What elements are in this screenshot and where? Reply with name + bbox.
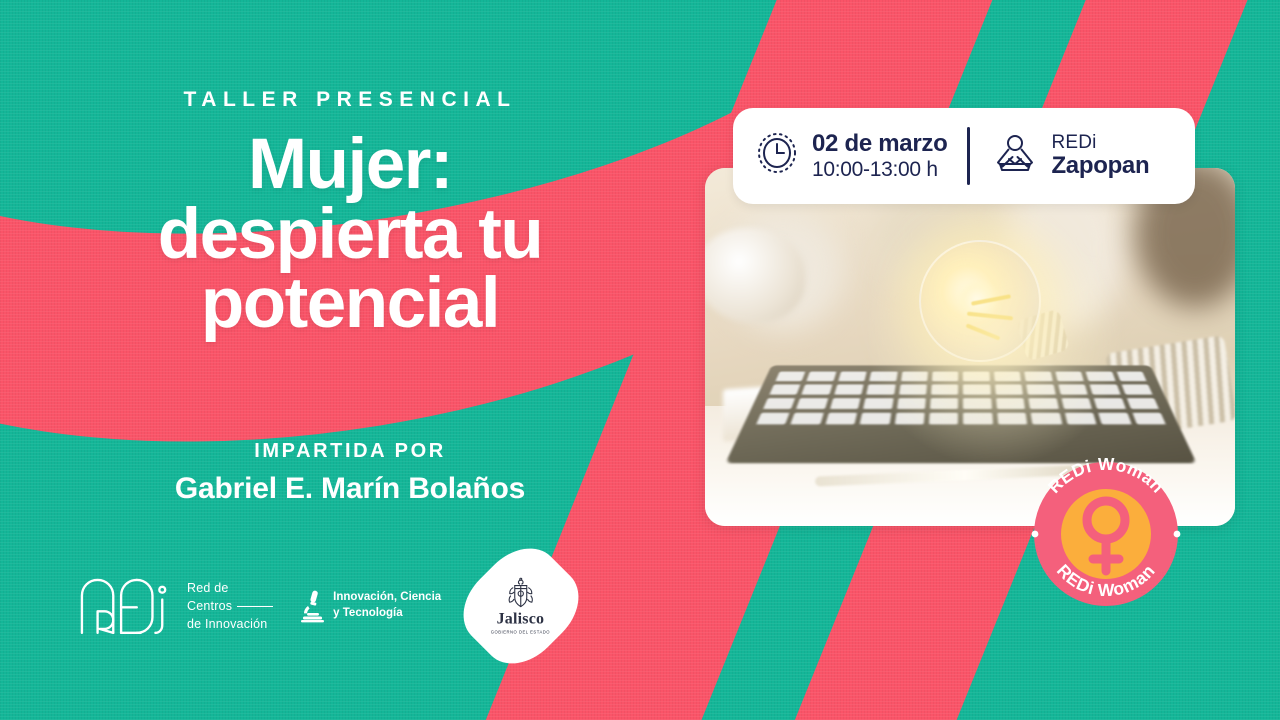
redi-logo-group: Red de Centros de Innovación <box>78 576 273 636</box>
event-date-value: 02 de marzo <box>812 131 947 158</box>
venue-city: Zapopan <box>1051 153 1149 180</box>
given-by-label: IMPARTIDA POR <box>0 440 700 463</box>
eyebrow-label: TALLER PRESENCIAL <box>0 88 700 112</box>
redi-tagline-line-2: Centros <box>187 599 232 613</box>
ict-label: Innovación, Ciencia y Tecnología <box>333 590 441 621</box>
ict-label-line-2: y Tecnología <box>333 606 441 622</box>
headline-line-2: despierta tu <box>0 200 700 270</box>
jalisco-coat-of-arms-icon <box>504 577 538 609</box>
jalisco-name: Jalisco <box>492 610 551 628</box>
info-card-divider <box>967 127 970 185</box>
page-title: Mujer: despierta tu potencial <box>0 130 700 339</box>
event-date-text: 02 de marzo 10:00-13:00 h <box>812 131 947 181</box>
speaker-name: Gabriel E. Marín Bolaños <box>0 472 700 506</box>
redi-tagline-line-1: Red de <box>187 579 273 597</box>
event-time-value: 10:00-13:00 h <box>812 158 947 182</box>
headline-line-3: potencial <box>0 269 700 339</box>
jalisco-subtitle: GOBIERNO DEL ESTADO <box>492 629 551 634</box>
event-date-block: 02 de marzo 10:00-13:00 h <box>755 131 947 181</box>
redi-woman-badge: REDi Woman REDi Woman <box>1016 444 1196 624</box>
microscope-icon <box>299 589 325 623</box>
jalisco-logo-inner: Jalisco GOBIERNO DEL ESTADO <box>492 577 551 634</box>
logo-strip: Red de Centros de Innovación Innovación,… <box>78 550 569 662</box>
venue-brand: REDi <box>1051 132 1149 153</box>
event-info-card: 02 de marzo 10:00-13:00 h REDi <box>733 108 1195 204</box>
lightbulb-icon <box>909 240 1069 420</box>
presenter-person-icon <box>992 131 1038 182</box>
redi-tagline-rule <box>237 606 273 607</box>
event-venue-text: REDi Zapopan <box>1051 132 1149 180</box>
ict-logo-group: Innovación, Ciencia y Tecnología <box>299 589 441 623</box>
redi-tagline-line-3: de Innovación <box>187 615 273 633</box>
redi-wordmark-logo <box>78 576 176 636</box>
event-venue-block: REDi Zapopan <box>992 131 1149 182</box>
clock-icon <box>755 131 799 180</box>
ict-label-line-1: Innovación, Ciencia <box>333 590 441 606</box>
redi-tagline: Red de Centros de Innovación <box>187 579 273 633</box>
redi-woman-badge-graphic: REDi Woman REDi Woman <box>1016 444 1196 624</box>
headline-line-1: Mujer: <box>0 130 700 200</box>
poster-canvas: 02 de marzo 10:00-13:00 h REDi <box>0 0 1280 720</box>
